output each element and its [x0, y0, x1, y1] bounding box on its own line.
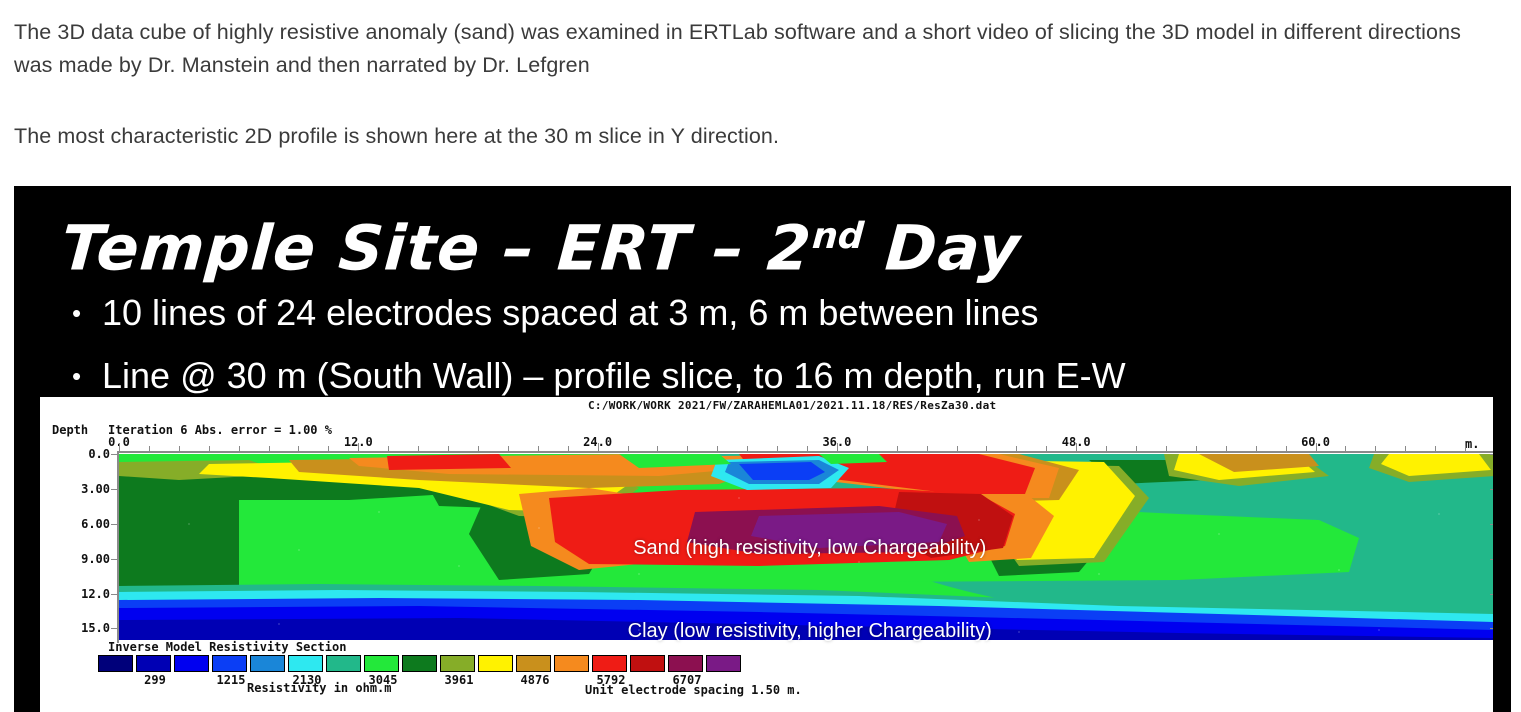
- slide-bullet-1-text: 10 lines of 24 electrodes spaced at 3 m,…: [102, 292, 1039, 333]
- resistivity-colorbar: [98, 655, 741, 672]
- colorbar-label: 2130: [293, 673, 322, 687]
- colorbar-label: 6707: [673, 673, 702, 687]
- y-tick-label: 12.0: [81, 587, 110, 601]
- colorbar-label: 3045: [369, 673, 398, 687]
- x-tick-mark: [1046, 446, 1047, 451]
- colorbar-label: 4876: [521, 673, 550, 687]
- colorbar-swatch: [326, 655, 361, 672]
- x-tick-mark: [239, 446, 240, 451]
- x-tick-mark: [1076, 443, 1077, 451]
- colorbar-swatch: [478, 655, 513, 672]
- y-tick-labels: 0.03.006.009.0012.015.0: [48, 454, 110, 640]
- x-tick-mark: [538, 446, 539, 451]
- x-tick-mark: [478, 446, 479, 451]
- y-tick-mark: [111, 559, 117, 560]
- x-tick-mark: [1375, 446, 1376, 451]
- x-tick-mark: [957, 446, 958, 451]
- x-tick-mark: [209, 446, 210, 451]
- pseudosection-image: [119, 454, 1493, 640]
- colorbar-label: 5792: [597, 673, 626, 687]
- colorbar-swatch: [288, 655, 323, 672]
- x-tick-mark: [1256, 446, 1257, 451]
- slide-title-superscript: nd: [811, 216, 865, 257]
- x-tick-mark: [867, 446, 868, 451]
- x-tick-mark: [1345, 446, 1346, 451]
- y-tick-mark-right: [1490, 524, 1493, 525]
- x-tick-mark: [388, 446, 389, 451]
- slide-title-tail: Day: [860, 212, 1023, 285]
- colorbar-swatch: [516, 655, 551, 672]
- x-tick-mark: [1286, 446, 1287, 451]
- x-tick-mark: [119, 443, 120, 451]
- x-tick-mark: [747, 446, 748, 451]
- data-file-path: C:/WORK/WORK 2021/FW/ZARAHEMLA01/2021.11…: [588, 399, 996, 412]
- x-tick-mark: [777, 446, 778, 451]
- legend-title: Inverse Model Resistivity Section: [108, 640, 346, 654]
- y-tick-mark-right: [1490, 489, 1493, 490]
- y-tick-label: 6.00: [81, 517, 110, 531]
- x-tick-labels: 0.012.024.036.048.060.0: [119, 435, 1493, 451]
- y-tick-label: 15.0: [81, 621, 110, 635]
- pseudosection-svg: [119, 454, 1493, 640]
- colorbar-swatch: [98, 655, 133, 672]
- colorbar-swatch: [250, 655, 285, 672]
- x-tick-mark: [1465, 446, 1466, 451]
- x-tick-mark: [717, 446, 718, 451]
- paragraph-2: The most characteristic 2D profile is sh…: [14, 120, 1504, 153]
- x-tick-mark: [1316, 443, 1317, 451]
- x-tick-mark: [837, 443, 838, 451]
- colorbar-label: 299: [144, 673, 166, 687]
- y-tick-mark-right: [1490, 594, 1493, 595]
- colorbar-swatch: [592, 655, 627, 672]
- x-tick-mark: [1136, 446, 1137, 451]
- presentation-slide: Temple Site – ERT – 2nd Day •10 lines of…: [14, 186, 1511, 712]
- slide-bullet-2: •Line @ 30 m (South Wall) – profile slic…: [72, 354, 1126, 398]
- x-tick-mark: [1106, 446, 1107, 451]
- x-tick-mark: [568, 446, 569, 451]
- slide-title-main: Temple Site – ERT – 2: [59, 212, 814, 285]
- y-tick-mark: [111, 454, 117, 455]
- x-tick-mark: [1166, 446, 1167, 451]
- pseudosection-plot-area: Sand (high resistivity, low Chargeabilit…: [119, 454, 1493, 640]
- x-tick-mark: [657, 446, 658, 451]
- y-tick-label: 3.00: [81, 482, 110, 496]
- x-tick-mark: [1435, 446, 1436, 451]
- y-tick-mark-right: [1490, 454, 1493, 455]
- resistivity-section-figure: C:/WORK/WORK 2021/FW/ZARAHEMLA01/2021.11…: [40, 397, 1493, 712]
- resistivity-colorbar-labels: 2991215213030453961487657926707: [98, 673, 618, 687]
- colorbar-swatch: [136, 655, 171, 672]
- x-tick-mark: [628, 446, 629, 451]
- x-tick-mark: [358, 443, 359, 451]
- colorbar-swatch: [706, 655, 741, 672]
- bullet-marker-icon: •: [72, 291, 102, 335]
- x-tick-mark: [269, 446, 270, 451]
- colorbar-swatch: [630, 655, 665, 672]
- depth-axis-title: Depth: [52, 423, 88, 437]
- x-tick-mark: [328, 446, 329, 451]
- y-tick-mark: [111, 594, 117, 595]
- x-tick-mark: [897, 446, 898, 451]
- x-tick-mark: [807, 446, 808, 451]
- paragraph-1: The 3D data cube of highly resistive ano…: [14, 16, 1504, 82]
- slide-title: Temple Site – ERT – 2nd Day: [59, 200, 1024, 286]
- colorbar-swatch: [554, 655, 589, 672]
- colorbar-swatch: [364, 655, 399, 672]
- bullet-marker-icon: •: [72, 354, 102, 398]
- x-tick-mark: [986, 446, 987, 451]
- colorbar-swatch: [402, 655, 437, 672]
- x-tick-mark: [179, 446, 180, 451]
- y-tick-mark: [111, 489, 117, 490]
- x-tick-mark: [1405, 446, 1406, 451]
- y-tick-mark-right: [1490, 559, 1493, 560]
- x-tick-mark: [298, 446, 299, 451]
- y-tick-mark-right: [1490, 628, 1493, 629]
- x-tick-mark: [448, 446, 449, 451]
- y-tick-label: 0.0: [88, 447, 110, 461]
- x-tick-mark: [598, 443, 599, 451]
- x-tick-mark: [508, 446, 509, 451]
- slide-bullet-1: •10 lines of 24 electrodes spaced at 3 m…: [72, 291, 1039, 335]
- x-tick-mark: [149, 446, 150, 451]
- colorbar-swatch: [212, 655, 247, 672]
- x-tick-mark: [1016, 446, 1017, 451]
- colorbar-swatch: [668, 655, 703, 672]
- y-tick-mark: [111, 524, 117, 525]
- x-tick-mark: [687, 446, 688, 451]
- x-tick-mark: [1226, 446, 1227, 451]
- colorbar-label: 3961: [445, 673, 474, 687]
- y-tick-label: 9.00: [81, 552, 110, 566]
- x-tick-mark: [418, 446, 419, 451]
- x-tick-mark: [1196, 446, 1197, 451]
- x-tick-mark: [927, 446, 928, 451]
- colorbar-label: 1215: [217, 673, 246, 687]
- y-tick-mark: [111, 628, 117, 629]
- colorbar-swatch: [440, 655, 475, 672]
- slide-bullet-2-text: Line @ 30 m (South Wall) – profile slice…: [102, 355, 1126, 396]
- prose-block: The 3D data cube of highly resistive ano…: [0, 0, 1521, 186]
- x-axis-line: [119, 451, 1493, 453]
- colorbar-swatch: [174, 655, 209, 672]
